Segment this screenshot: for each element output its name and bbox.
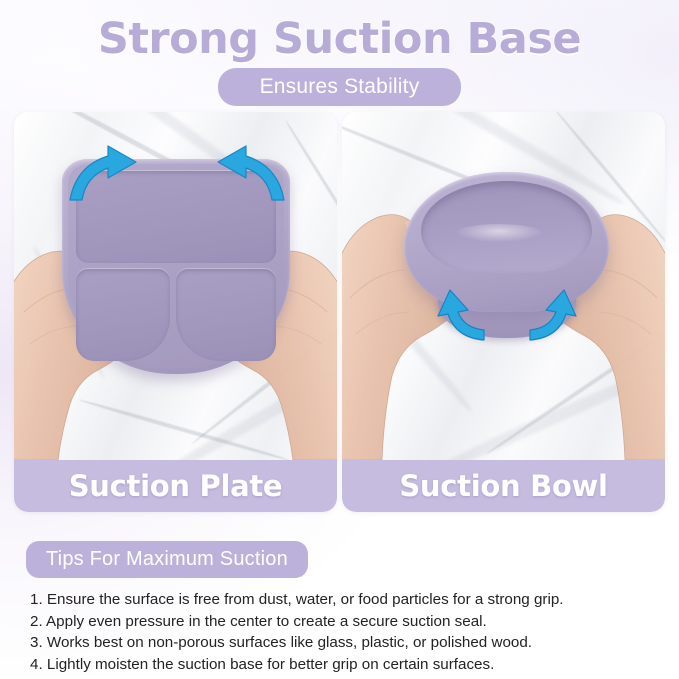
caption-label: Suction Bowl (399, 469, 607, 503)
tip-item: 2. Apply even pressure in the center to … (26, 611, 656, 633)
tip-item: 1. Ensure the surface is free from dust,… (26, 589, 656, 611)
tips-section: Tips For Maximum Suction 1. Ensure the s… (26, 541, 656, 675)
caption-label: Suction Plate (69, 469, 283, 503)
infographic-page: Strong Suction Base Ensures Stability (0, 0, 679, 679)
subtitle-badge: Ensures Stability (218, 68, 462, 106)
tips-list: 1. Ensure the surface is free from dust,… (26, 589, 656, 675)
panel-suction-bowl: Suction Bowl (342, 112, 665, 512)
subtitle-row: Ensures Stability (0, 68, 679, 106)
tip-item: 3. Works best on non-porous surfaces lik… (26, 632, 656, 654)
bowl-highlight (456, 224, 542, 242)
curved-arrow-up-left-icon (434, 288, 490, 344)
panel-suction-plate: Suction Plate (14, 112, 337, 512)
caption-bar-suction-plate: Suction Plate (14, 460, 337, 512)
curved-arrow-up-left-icon (64, 142, 144, 204)
plate-compartment-bottom-right (176, 269, 276, 361)
tip-item: 4. Lightly moisten the suction base for … (26, 654, 656, 676)
photo-suction-bowl (342, 112, 665, 460)
plate-compartment-bottom-left (76, 269, 170, 361)
curved-arrow-up-right-icon (524, 288, 580, 344)
page-title: Strong Suction Base (0, 0, 679, 64)
header: Strong Suction Base Ensures Stability (0, 0, 679, 106)
tips-badge: Tips For Maximum Suction (26, 541, 308, 578)
photo-panels: Suction Plate (14, 112, 666, 512)
photo-suction-plate (14, 112, 337, 460)
curved-arrow-up-right-icon (210, 142, 290, 204)
caption-bar-suction-bowl: Suction Bowl (342, 460, 665, 512)
